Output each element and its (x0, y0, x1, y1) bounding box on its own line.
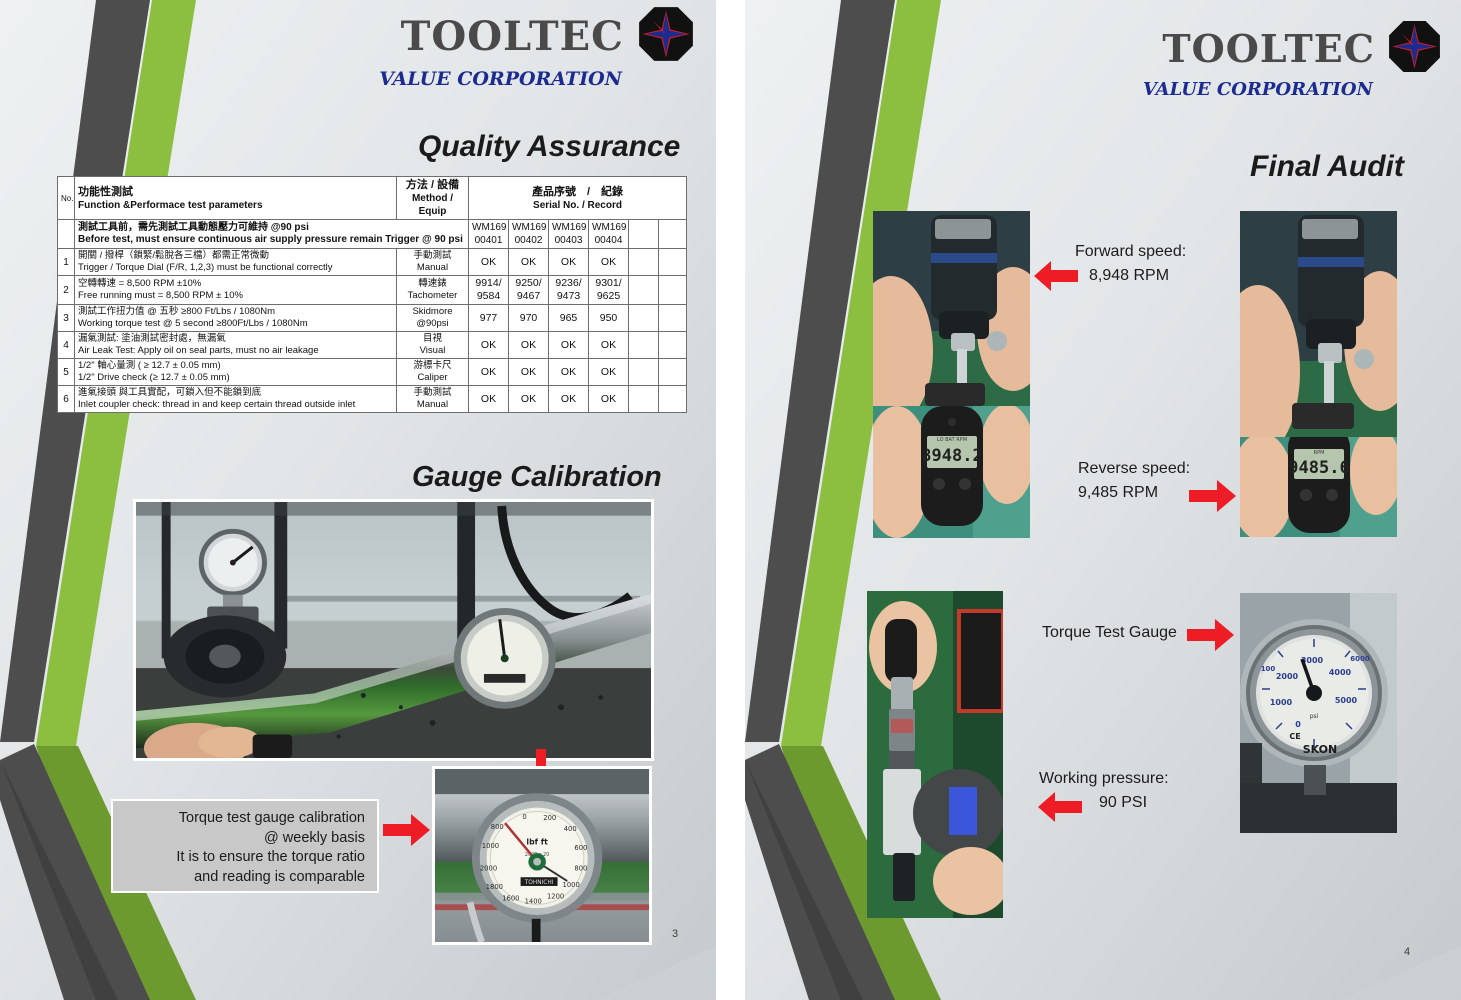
row-no: 6 (58, 386, 75, 413)
svg-text:SKON: SKON (1303, 743, 1338, 756)
slide-quality-assurance: TOOLTEC VALUE CORPORATION Qu (0, 0, 716, 1000)
row-value: 970 (509, 305, 549, 332)
row-value: OK (589, 249, 629, 276)
svg-text:100: 100 (1261, 665, 1276, 673)
page-title: Quality Assurance (418, 130, 680, 164)
brand-tagline: VALUE CORPORATION (379, 70, 622, 89)
svg-text:800: 800 (574, 864, 587, 872)
annotation-torque-test-gauge: Torque Test Gauge (1042, 621, 1177, 645)
row-no: 2 (58, 276, 75, 305)
row-method: 手動測試Manual (397, 249, 469, 276)
row-value: 9236/ 9473 (549, 276, 589, 305)
compass-star-emblem-icon (638, 6, 694, 67)
left-arrow-icon (1033, 260, 1079, 292)
svg-text:4000: 4000 (1329, 668, 1352, 677)
row-value: OK (589, 359, 629, 386)
svg-text:psi: psi (1310, 713, 1319, 720)
brand-logo: TOOLTEC VALUE CORPORATION (1143, 20, 1441, 99)
right-arrow-icon (383, 813, 431, 847)
row-no: 4 (58, 332, 75, 359)
brand-wordmark: TOOLTEC (401, 17, 624, 57)
row-value: OK (589, 332, 629, 359)
tachometer-reverse-photo: 9485.6 RPM (1240, 437, 1397, 537)
annotation-label: Torque Test Gauge (1042, 621, 1177, 645)
row-description: 空轉轉速 = 8,500 RPM ±10% Free running must … (75, 276, 397, 305)
right-arrow-icon (1189, 479, 1237, 513)
svg-text:1200: 1200 (547, 893, 564, 901)
table-row: 5 1/2" 軸心量測 ( ≥ 12.7 ± 0.05 mm) 1/2" Dri… (58, 359, 687, 386)
right-arrow-icon (1187, 618, 1235, 652)
row-no: 3 (58, 305, 75, 332)
svg-text:2000: 2000 (480, 864, 497, 872)
row-method: 目視Visual (397, 332, 469, 359)
section-title-gauge-calibration: Gauge Calibration (412, 461, 662, 494)
annotation-label: Reverse speed: (1078, 457, 1190, 481)
table-header-row: No. 功能性測試 Function &Performace test para… (58, 177, 687, 220)
table-row-precondition: 測試工具前，需先測試工具動態壓力可維持 @90 psi Before test,… (58, 220, 687, 249)
table-row: 3 測試工作扭力值 @ 五秒 ≥800 Ft/Lbs / 1080Nm Work… (58, 305, 687, 332)
note-line-2: @ weekly basis (123, 829, 365, 849)
brand-logo: TOOLTEC VALUE CORPORATION (379, 6, 694, 89)
row-method: 游標卡尺Caliper (397, 359, 469, 386)
row-value: 9301/ 9625 (589, 276, 629, 305)
row-description: 1/2" 軸心量測 ( ≥ 12.7 ± 0.05 mm) 1/2" Drive… (75, 359, 397, 386)
svg-text:1400: 1400 (525, 897, 542, 905)
quality-assurance-table: No. 功能性測試 Function &Performace test para… (57, 176, 687, 413)
svg-text:1000: 1000 (1270, 698, 1293, 707)
serial-3: WM16900403 (549, 220, 589, 249)
torque-wrench-calibration-photo (133, 499, 654, 761)
row-value: OK (549, 332, 589, 359)
svg-text:0: 0 (1295, 720, 1301, 729)
note-line-1: Torque test gauge calibration (123, 809, 365, 829)
annotation-label: Working pressure: (1039, 767, 1169, 791)
left-arrow-icon (1037, 791, 1083, 823)
svg-text:TOHNICHI: TOHNICHI (524, 880, 554, 886)
svg-text:lbf ft: lbf ft (526, 837, 548, 846)
tachometer-forward-photo: 8948.2 LO BAT RPM (873, 406, 1030, 538)
header-record: 產品序號 / 紀錄 Serial No. / Record (469, 177, 687, 220)
row-description: 開關 / 撥桿（鎖緊/鬆脫各三檔）都需正常微動 Trigger / Torque… (75, 249, 397, 276)
slide-gutter (716, 0, 745, 1000)
row-value: OK (509, 249, 549, 276)
page-number: 4 (1404, 946, 1410, 958)
row-value: OK (469, 332, 509, 359)
row-value: OK (549, 386, 589, 413)
precondition-text: 測試工具前，需先測試工具動態壓力可維持 @90 psi Before test,… (75, 220, 469, 249)
row-value: OK (589, 386, 629, 413)
header-method: 方法 / 設備 Method / Equip (397, 177, 469, 220)
row-value: 977 (469, 305, 509, 332)
svg-text:400: 400 (564, 825, 577, 833)
svg-text:1600: 1600 (502, 894, 519, 902)
annotation-label: Forward speed: (1075, 240, 1186, 264)
row-method: 轉速錶Tachometer (397, 276, 469, 305)
svg-text:LO BAT RPM: LO BAT RPM (937, 437, 967, 443)
pressure-gauge-photo: 0 1000 2000 3000 4000 5000 6000 100 psi … (1240, 593, 1397, 833)
annotation-forward-speed: Forward speed: 8,948 RPM (1075, 240, 1186, 288)
row-value: OK (509, 386, 549, 413)
impact-wrench-forward-photo (873, 211, 1030, 406)
row-value: OK (509, 359, 549, 386)
svg-text:0: 0 (522, 813, 526, 821)
header-function: 功能性測試 Function &Performace test paramete… (75, 177, 397, 220)
row-method: Skidmore@90psi (397, 305, 469, 332)
calibration-note-callout: Torque test gauge calibration @ weekly b… (111, 799, 379, 893)
slide-final-audit: TOOLTEC VALUE CORPORATION Fi (745, 0, 1461, 1000)
svg-text:800: 800 (491, 823, 504, 831)
air-pressure-regulator-photo (867, 591, 1003, 918)
row-value: 950 (589, 305, 629, 332)
table-row: 1 開關 / 撥桿（鎖緊/鬆脫各三檔）都需正常微動 Trigger / Torq… (58, 249, 687, 276)
row-value: 9250/ 9467 (509, 276, 549, 305)
row-value: 9914/ 9584 (469, 276, 509, 305)
brand-wordmark: TOOLTEC (1162, 30, 1375, 68)
compass-star-emblem-icon (1388, 20, 1441, 78)
row-no: 5 (58, 359, 75, 386)
annotation-value: 8,948 RPM (1089, 264, 1186, 288)
serial-4: WM16900404 (589, 220, 629, 249)
brand-tagline: VALUE CORPORATION (1143, 81, 1373, 99)
note-line-4: and reading is comparable (123, 868, 365, 888)
row-value: OK (469, 386, 509, 413)
row-method: 手動測試Manual (397, 386, 469, 413)
row-value: OK (549, 359, 589, 386)
row-value: OK (509, 332, 549, 359)
svg-text:CE: CE (1289, 732, 1300, 741)
table-row: 2 空轉轉速 = 8,500 RPM ±10% Free running mus… (58, 276, 687, 305)
svg-text:6000: 6000 (1350, 655, 1370, 663)
svg-text:200: 200 (543, 814, 556, 822)
svg-text:8948.2: 8948.2 (921, 446, 982, 466)
annotation-value: 9,485 RPM (1078, 481, 1190, 505)
row-description: 漏氣測試: 塗油測試密封處，無漏氣 Air Leak Test: Apply o… (75, 332, 397, 359)
note-line-3: It is to ensure the torque ratio (123, 848, 365, 868)
svg-text:600: 600 (574, 844, 587, 852)
row-value: OK (469, 359, 509, 386)
row-value: 965 (549, 305, 589, 332)
svg-text:RPM: RPM (1314, 450, 1325, 456)
svg-text:2000: 2000 (1276, 672, 1299, 681)
row-description: 進氣接頭 與工具實配，可鎖入但不能鎖到底 Inlet coupler check… (75, 386, 397, 413)
impact-wrench-reverse-photo (1240, 211, 1397, 445)
torque-gauge-closeup-photo: 0 200 400 600 800 1000 1200 1400 1600 18… (432, 766, 652, 945)
row-value: OK (469, 249, 509, 276)
serial-2: WM16900402 (509, 220, 549, 249)
table-row: 6 進氣接頭 與工具實配，可鎖入但不能鎖到底 Inlet coupler che… (58, 386, 687, 413)
svg-text:1800: 1800 (486, 883, 503, 891)
svg-text:9485.6: 9485.6 (1288, 458, 1349, 478)
page-title: Final Audit (1250, 150, 1404, 184)
row-value: OK (549, 249, 589, 276)
row-no: 1 (58, 249, 75, 276)
annotation-value: 90 PSI (1099, 791, 1169, 815)
serial-1: WM16900401 (469, 220, 509, 249)
row-description: 測試工作扭力值 @ 五秒 ≥800 Ft/Lbs / 1080Nm Workin… (75, 305, 397, 332)
header-no: No. (58, 177, 75, 220)
annotation-reverse-speed: Reverse speed: 9,485 RPM (1078, 457, 1190, 505)
page-number: 3 (672, 928, 678, 940)
table-row: 4 漏氣測試: 塗油測試密封處，無漏氣 Air Leak Test: Apply… (58, 332, 687, 359)
svg-text:1000: 1000 (563, 881, 580, 889)
two-slide-spread: TOOLTEC VALUE CORPORATION Qu (0, 0, 1461, 1000)
svg-text:1000: 1000 (482, 842, 499, 850)
svg-text:5000: 5000 (1335, 696, 1358, 705)
